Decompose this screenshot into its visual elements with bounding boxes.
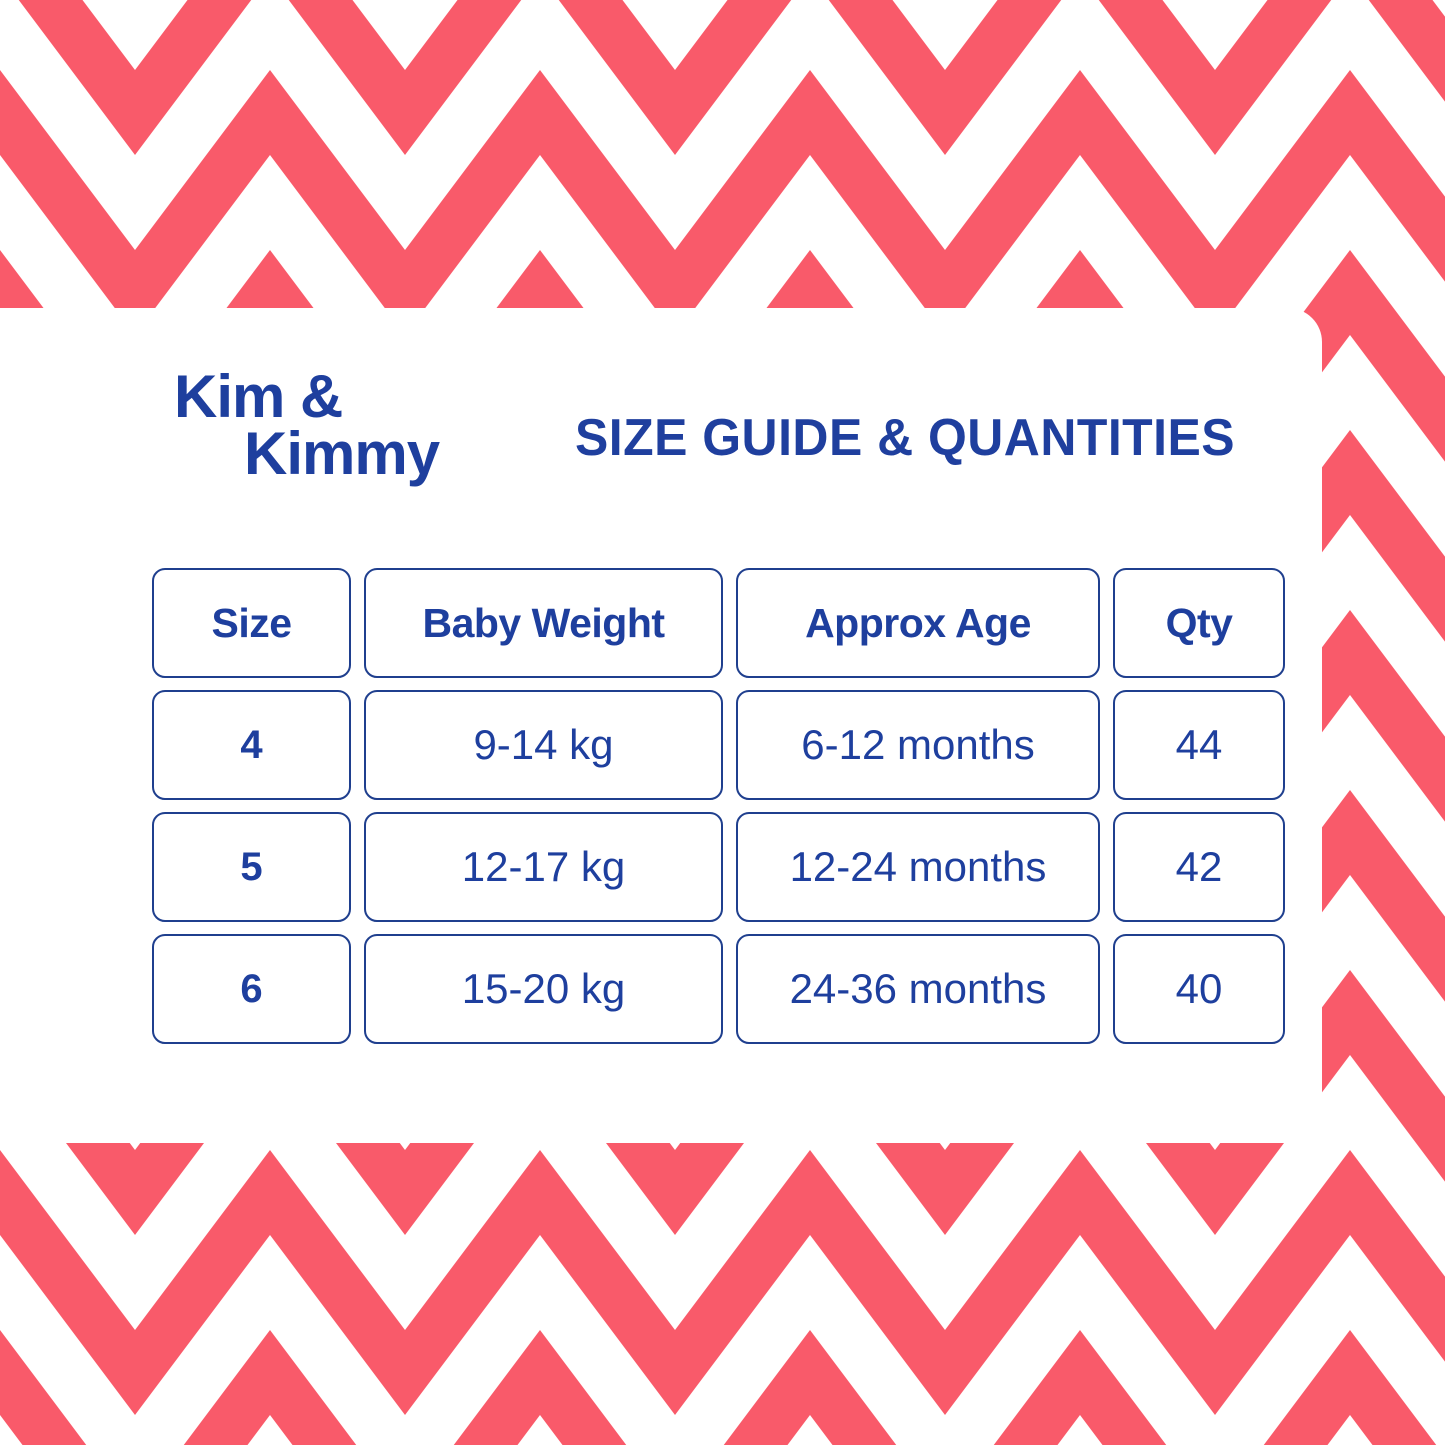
cell-size: 4 [152,690,351,800]
table-row: 4 9-14 kg 6-12 months 44 [152,690,1285,800]
column-header-approx-age: Approx Age [736,568,1100,678]
cell-size: 6 [152,934,351,1044]
cell-qty: 44 [1113,690,1285,800]
page-title: SIZE GUIDE & QUANTITIES [575,408,1235,468]
brand-logo-line-1: Kim & [170,368,510,425]
cell-qty: 40 [1113,934,1285,1044]
cell-approx-age: 24-36 months [736,934,1100,1044]
cell-qty: 42 [1113,812,1285,922]
table-row: 5 12-17 kg 12-24 months 42 [152,812,1285,922]
brand-logo-line-2: Kimmy [170,425,510,482]
table-row: 6 15-20 kg 24-36 months 40 [152,934,1285,1044]
header-row: Kim & Kimmy SIZE GUIDE & QUANTITIES [0,308,1322,558]
cell-baby-weight: 12-17 kg [364,812,723,922]
cell-approx-age: 6-12 months [736,690,1100,800]
column-header-size: Size [152,568,351,678]
cell-approx-age: 12-24 months [736,812,1100,922]
size-guide-table: Size Baby Weight Approx Age Qty 4 9-14 k… [139,556,1298,1056]
table-header-row: Size Baby Weight Approx Age Qty [152,568,1285,678]
cell-size: 5 [152,812,351,922]
cell-baby-weight: 9-14 kg [364,690,723,800]
cell-baby-weight: 15-20 kg [364,934,723,1044]
size-guide-infographic: Kim & Kimmy SIZE GUIDE & QUANTITIES Size… [0,0,1445,1445]
brand-logo: Kim & Kimmy [170,368,510,482]
column-header-qty: Qty [1113,568,1285,678]
column-header-baby-weight: Baby Weight [364,568,723,678]
